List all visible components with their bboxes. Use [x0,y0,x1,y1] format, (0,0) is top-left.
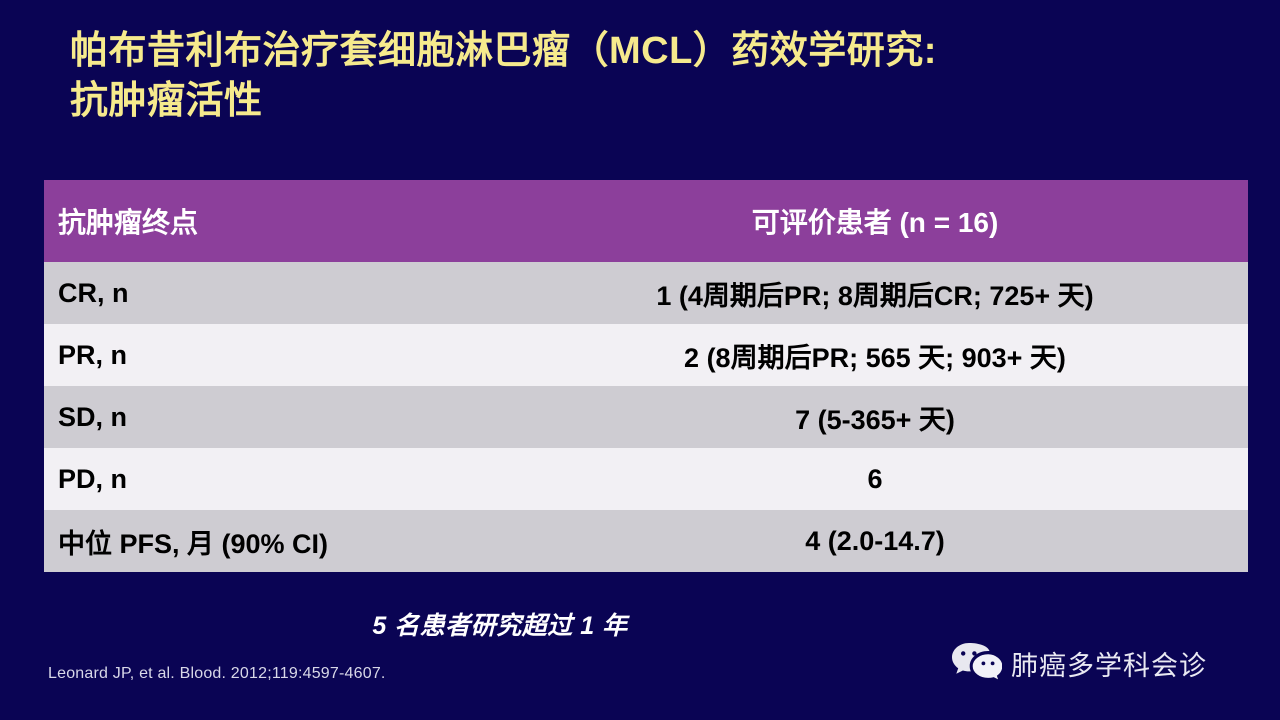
footnote-text: 5 名患者研究超过 1 年 [0,606,1000,642]
antitumor-results-table: 抗肿瘤终点 可评价患者 (n = 16) CR, n 1 (4周期后PR; 8周… [44,180,1248,572]
cell-endpoint: CR, n [44,262,488,324]
cell-endpoint: SD, n [44,386,488,448]
cell-endpoint: 中位 PFS, 月 (90% CI) [44,510,488,572]
cell-value: 6 [488,448,1248,510]
table-row: SD, n 7 (5-365+ 天) [44,386,1248,448]
cell-value: 2 (8周期后PR; 565 天; 903+ 天) [488,324,1248,386]
table-row: 中位 PFS, 月 (90% CI) 4 (2.0-14.7) [44,510,1248,572]
wechat-icon [952,641,1002,686]
wechat-watermark: 肺癌多学科会诊 [952,641,1207,686]
table-row: PR, n 2 (8周期后PR; 565 天; 903+ 天) [44,324,1248,386]
table-row: PD, n 6 [44,448,1248,510]
cell-value: 4 (2.0-14.7) [488,510,1248,572]
cell-endpoint: PD, n [44,448,488,510]
cell-endpoint: PR, n [44,324,488,386]
wechat-account-name: 肺癌多学科会诊 [1011,644,1207,683]
citation-text: Leonard JP, et al. Blood. 2012;119:4597-… [48,665,386,683]
column-header-endpoint: 抗肿瘤终点 [44,180,488,262]
table-row: CR, n 1 (4周期后PR; 8周期后CR; 725+ 天) [44,262,1248,324]
page-title: 帕布昔利布治疗套细胞淋巴瘤（MCL）药效学研究: 抗肿瘤活性 [70,26,1220,126]
table-header-row: 抗肿瘤终点 可评价患者 (n = 16) [44,180,1248,262]
column-header-evaluable-patients: 可评价患者 (n = 16) [488,180,1248,262]
cell-value: 7 (5-365+ 天) [488,386,1248,448]
cell-value: 1 (4周期后PR; 8周期后CR; 725+ 天) [488,262,1248,324]
